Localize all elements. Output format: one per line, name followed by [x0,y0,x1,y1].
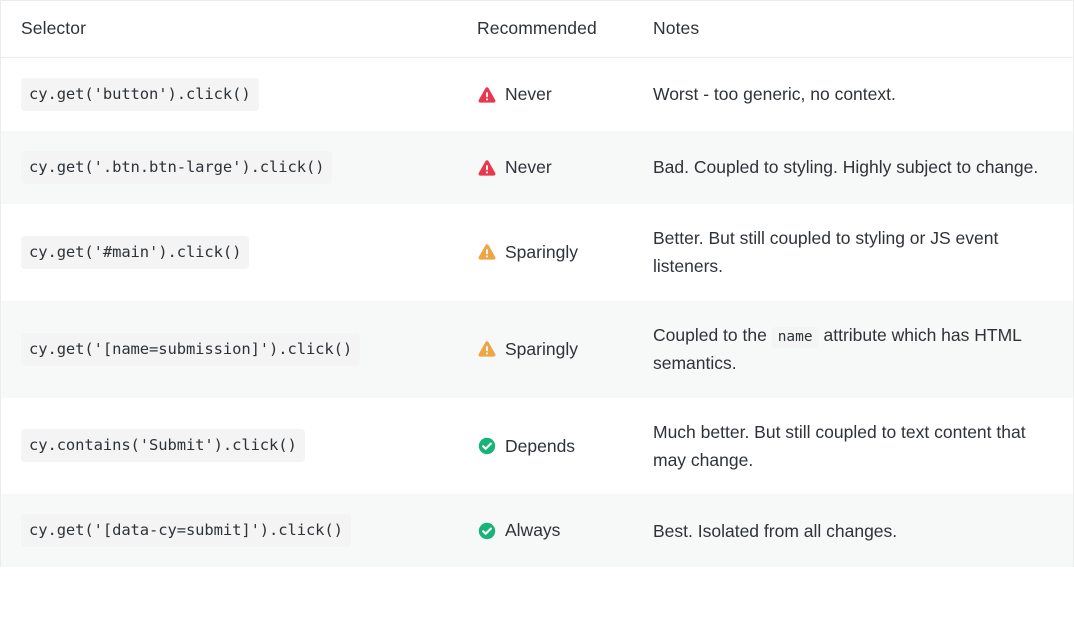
check-circle-icon [477,521,497,541]
warning-triangle-icon [477,158,497,178]
cell-recommended: Sparingly [464,204,642,301]
table-row: cy.contains('Submit').click()DependsMuch… [1,398,1073,495]
note-text-before: Coupled to the [653,325,772,345]
table-row: cy.get('[data-cy=submit]').click()Always… [1,494,1073,567]
cell-recommended: Sparingly [464,301,642,398]
check-circle-icon [477,436,497,456]
recommendation-label: Sparingly [505,341,578,359]
table-header: Selector Recommended Notes [1,1,1073,58]
note-text-before: Worst - too generic, no context. [653,84,896,104]
selector-code-snippet: cy.get('button').click() [21,78,259,111]
table-header-row: Selector Recommended Notes [1,1,1073,58]
cell-notes: Better. But still coupled to styling or … [642,204,1073,301]
cell-selector: cy.get('#main').click() [1,204,464,301]
table-body: cy.get('button').click()NeverWorst - too… [1,58,1073,568]
selector-code-snippet: cy.get('[data-cy=submit]').click() [21,514,351,547]
cell-recommended: Depends [464,398,642,495]
note-text-before: Much better. But still coupled to text c… [653,422,1026,470]
note-text: Worst - too generic, no context. [653,80,1055,108]
cell-notes: Best. Isolated from all changes. [642,494,1073,567]
cell-notes: Coupled to the name attribute which has … [642,301,1073,398]
recommendation-label: Sparingly [505,244,578,262]
selector-code-snippet: cy.get('#main').click() [21,236,249,269]
note-text: Coupled to the name attribute which has … [653,321,1055,378]
column-header-selector: Selector [1,1,464,58]
selector-best-practices-table-container: Selector Recommended Notes cy.get('butto… [0,0,1074,567]
cell-recommended: Never [464,58,642,132]
recommendation-label: Never [505,159,552,177]
selector-code-snippet: cy.get('.btn.btn-large').click() [21,151,332,184]
recommendation-badge: Sparingly [477,242,636,262]
note-text: Best. Isolated from all changes. [653,517,1055,545]
recommendation-badge: Always [477,521,636,541]
table-row: cy.get('#main').click()SparinglyBetter. … [1,204,1073,301]
note-text-before: Best. Isolated from all changes. [653,521,897,541]
cell-selector: cy.get('button').click() [1,58,464,132]
column-header-recommended: Recommended [464,1,642,58]
note-inline-code: name [772,327,819,348]
table-row: cy.get('[name=submission]').click()Spari… [1,301,1073,398]
selector-best-practices-table: Selector Recommended Notes cy.get('butto… [1,1,1073,567]
recommendation-badge: Depends [477,436,636,456]
note-text: Much better. But still coupled to text c… [653,418,1055,475]
recommendation-badge: Never [477,85,636,105]
warning-triangle-icon [477,242,497,262]
recommendation-badge: Sparingly [477,339,636,359]
recommendation-label: Depends [505,438,575,456]
note-text-before: Better. But still coupled to styling or … [653,228,998,276]
selector-code-snippet: cy.get('[name=submission]').click() [21,333,360,366]
cell-recommended: Never [464,131,642,204]
warning-triangle-icon [477,339,497,359]
table-row: cy.get('button').click()NeverWorst - too… [1,58,1073,132]
cell-selector: cy.get('.btn.btn-large').click() [1,131,464,204]
warning-triangle-icon [477,85,497,105]
note-text-before: Bad. Coupled to styling. Highly subject … [653,157,1038,177]
selector-code-snippet: cy.contains('Submit').click() [21,429,305,462]
note-text: Bad. Coupled to styling. Highly subject … [653,153,1055,181]
table-row: cy.get('.btn.btn-large').click()NeverBad… [1,131,1073,204]
recommendation-badge: Never [477,158,636,178]
cell-selector: cy.contains('Submit').click() [1,398,464,495]
recommendation-label: Never [505,86,552,104]
cell-notes: Much better. But still coupled to text c… [642,398,1073,495]
cell-selector: cy.get('[data-cy=submit]').click() [1,494,464,567]
column-header-notes: Notes [642,1,1073,58]
note-text: Better. But still coupled to styling or … [653,224,1055,281]
cell-notes: Worst - too generic, no context. [642,58,1073,132]
recommendation-label: Always [505,522,560,540]
cell-selector: cy.get('[name=submission]').click() [1,301,464,398]
cell-notes: Bad. Coupled to styling. Highly subject … [642,131,1073,204]
cell-recommended: Always [464,494,642,567]
